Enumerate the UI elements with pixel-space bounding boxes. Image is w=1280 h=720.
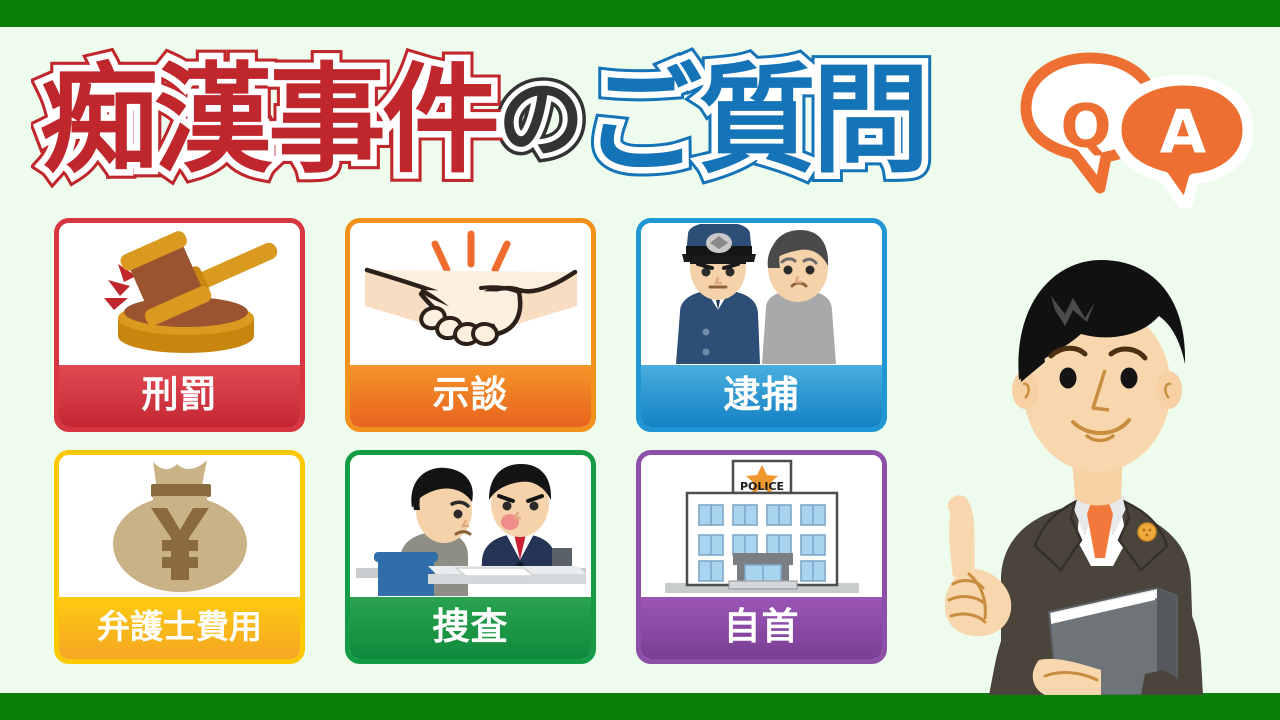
lawyer-figure-icon	[905, 240, 1280, 695]
card-image-area	[59, 223, 300, 365]
card-jidan[interactable]: 示談	[345, 218, 596, 432]
card-keibatsu[interactable]: 刑罰	[54, 218, 305, 432]
qa-a-letter: A	[1160, 98, 1207, 168]
topic-card-grid: 刑罰	[54, 218, 890, 664]
police-arrest-icon	[662, 224, 862, 364]
card-label-bengoshi-hiyou: 弁護士費用	[59, 597, 300, 659]
card-label-jidan: 示談	[350, 365, 591, 427]
card-taiho[interactable]: 逮捕	[636, 218, 887, 432]
card-image-area	[59, 455, 300, 597]
card-image-area	[641, 223, 882, 365]
police-station-icon: POLICE	[657, 455, 867, 597]
card-label-taiho: 逮捕	[641, 365, 882, 427]
top-accent-bar	[0, 0, 1280, 27]
police-sign-text: POLICE	[739, 480, 783, 493]
card-jishu[interactable]: POLICE	[636, 450, 887, 664]
bottom-accent-bar	[0, 693, 1280, 720]
title-part-1: 痴漢事件	[40, 61, 496, 179]
card-label-keibatsu: 刑罰	[59, 365, 300, 427]
qa-q-letter: Q	[1060, 92, 1111, 162]
qa-speech-bubbles-icon: Q A	[1008, 48, 1256, 208]
card-bengoshi-hiyou[interactable]: 弁護士費用	[54, 450, 305, 664]
card-image-area: POLICE	[641, 455, 882, 597]
handshake-icon	[361, 228, 581, 360]
page-title: 痴漢事件 の ご質問	[40, 40, 1040, 200]
card-label-sousa: 捜査	[350, 597, 591, 659]
card-label-jishu: 自首	[641, 597, 882, 659]
lawyer-illustration	[905, 240, 1280, 695]
card-sousa[interactable]: 捜査	[345, 450, 596, 664]
card-image-area	[350, 223, 591, 365]
title-connector: の	[498, 77, 582, 163]
gavel-icon	[80, 228, 280, 360]
interrogation-icon	[356, 456, 586, 596]
card-image-area	[350, 455, 591, 597]
qa-badge: Q A	[1008, 48, 1256, 208]
title-part-2: ご質問	[584, 61, 926, 179]
money-bag-icon	[105, 456, 255, 596]
